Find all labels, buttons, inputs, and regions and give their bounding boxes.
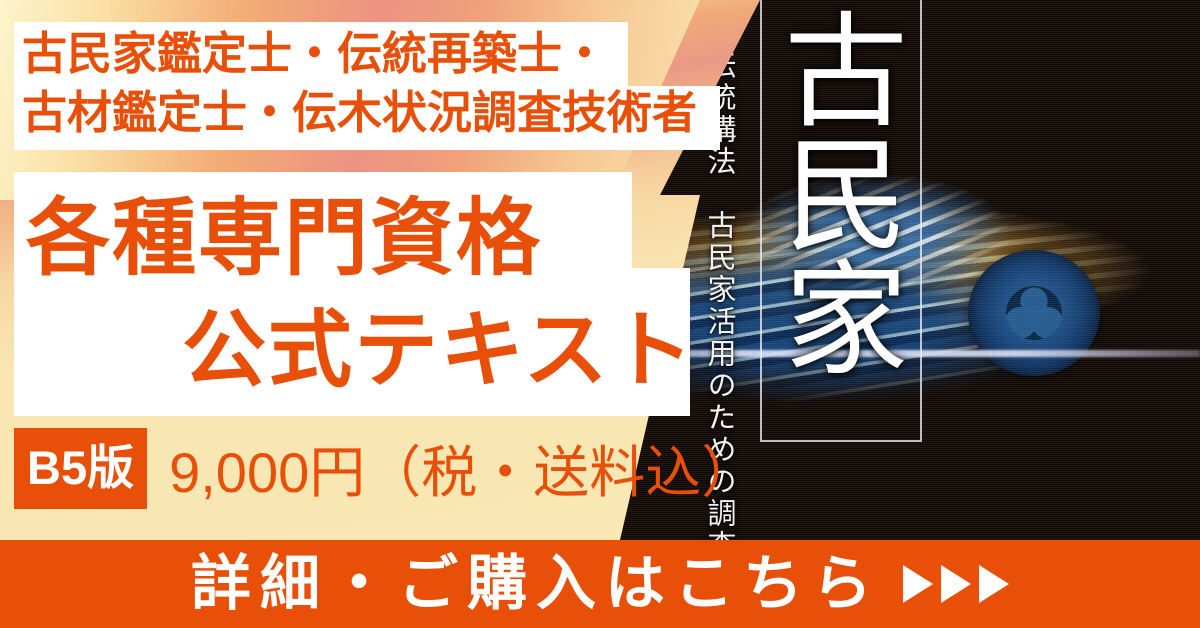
- main-title: 各種専門資格 公式テキスト: [18, 182, 698, 406]
- cta-bar[interactable]: 詳細・ご購入はこちら: [0, 540, 1200, 628]
- triangle-right-icon: [941, 565, 971, 603]
- promo-banner: 古民家 伝統構法 古民家活用のための調査と再生の 古民家鑑定士・伝統再築士・ 古…: [0, 0, 1200, 628]
- cta-label: 詳細・ご購入はこちら: [191, 554, 881, 614]
- price-row: B5版 9,000円（税・送料込）: [14, 428, 757, 508]
- price-label: 9,000円（税・送料込）: [169, 428, 757, 509]
- headline-line-2: 古材鑑定士・伝木状況調査技術者: [18, 83, 738, 142]
- size-badge: B5版: [14, 428, 147, 509]
- cta-arrow-group: [903, 565, 1009, 603]
- main-title-line-1: 各種専門資格: [18, 182, 698, 294]
- triangle-right-icon: [903, 565, 933, 603]
- main-title-line-2: 公式テキスト: [18, 294, 698, 406]
- headline-line-1: 古民家鑑定士・伝統再築士・: [18, 24, 738, 83]
- triangle-right-icon: [979, 565, 1009, 603]
- headline: 古民家鑑定士・伝統再築士・ 古材鑑定士・伝木状況調査技術者: [18, 24, 738, 142]
- cover-title: 古民家: [778, 6, 906, 378]
